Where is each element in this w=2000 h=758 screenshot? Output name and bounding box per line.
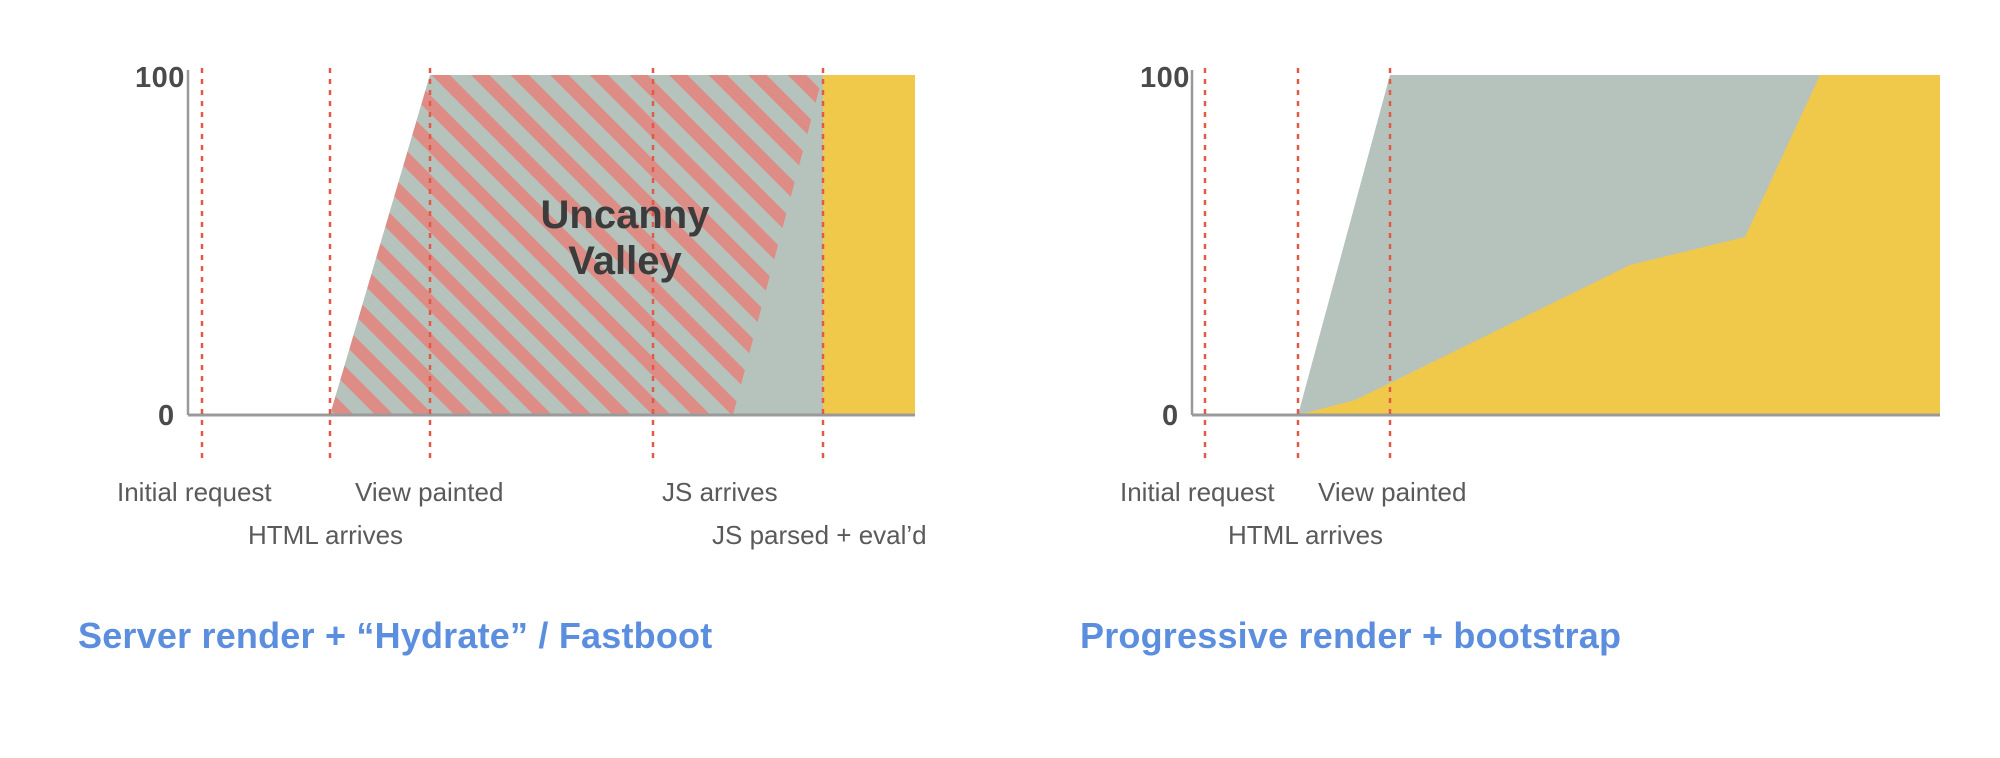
uncanny-valley-annotation: Uncanny Valley: [510, 192, 740, 284]
caption-server-render: Server render + “Hydrate” / Fastboot: [78, 615, 712, 657]
panel-progressive-render: 100 0 Initial request HTML arrives View …: [1000, 0, 2000, 758]
y-axis-min-label: 0: [158, 400, 175, 433]
y-axis-max-label: 100: [135, 62, 185, 95]
figure-panels: 100 0 Uncanny Valley Initial request HTM…: [0, 0, 2000, 758]
panel-server-render: 100 0 Uncanny Valley Initial request HTM…: [0, 0, 1000, 758]
y-axis-min-label-right: 0: [1162, 400, 1179, 433]
y-axis-max-label-right: 100: [1140, 62, 1190, 95]
caption-progressive-render: Progressive render + bootstrap: [1080, 615, 1621, 657]
